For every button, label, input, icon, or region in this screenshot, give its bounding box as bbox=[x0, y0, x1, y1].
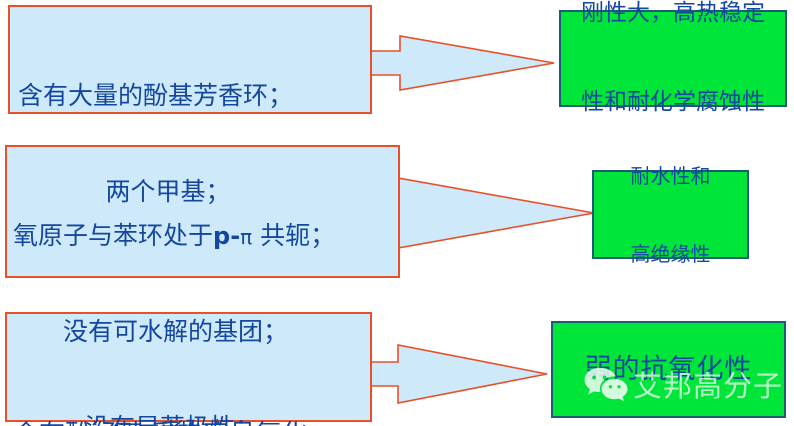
result-text-3: 弱的抗氧化性 bbox=[585, 282, 753, 426]
source-line-part-a: 氧原子与苯环处于 bbox=[13, 221, 213, 250]
result-line: 耐水性和 bbox=[631, 163, 711, 189]
p-orbital-symbol: p- bbox=[213, 222, 240, 250]
slide-canvas: 含有大量的酚基芳香环； 两个甲基； 刚性大，高热稳定 性和耐化学腐蚀性 氧原子与… bbox=[0, 0, 794, 426]
result-line: 高绝缘性 bbox=[631, 241, 711, 267]
result-line: 弱的抗氧化性 bbox=[585, 352, 753, 387]
source-line: 含有酚羟基,受热容易氧化 bbox=[13, 419, 380, 426]
result-box-3: 弱的抗氧化性 bbox=[551, 321, 786, 418]
pi-symbol: π bbox=[240, 225, 252, 249]
source-line-part-b: 共轭； bbox=[252, 221, 335, 250]
source-text-3: 含有酚羟基,受热容易氧化 bbox=[5, 352, 380, 426]
source-line: 氧原子与苯环处于p-π 共轭； bbox=[5, 220, 400, 252]
source-line: 没有可水解的基团； bbox=[5, 316, 400, 348]
result-box-1: 刚性大，高热稳定 性和耐化学腐蚀性 bbox=[559, 10, 787, 107]
source-line: 含有大量的酚基芳香环； bbox=[8, 80, 372, 112]
result-box-2: 耐水性和 高绝缘性 bbox=[592, 170, 749, 259]
result-line: 刚性大，高热稳定 bbox=[581, 0, 765, 29]
